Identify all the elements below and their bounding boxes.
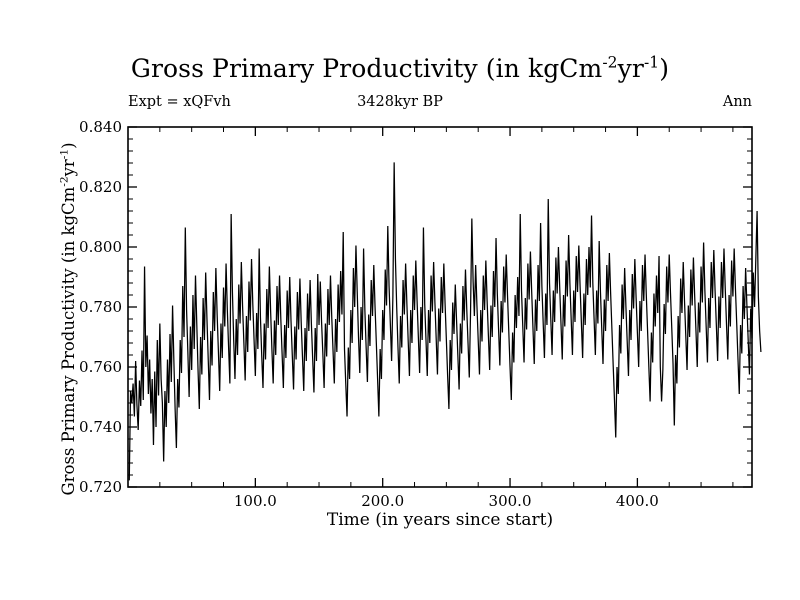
series-line-0 (129, 162, 761, 480)
chart-figure: Gross Primary Productivity (in kgCm-2yr-… (0, 0, 800, 600)
plot-canvas (0, 0, 800, 600)
